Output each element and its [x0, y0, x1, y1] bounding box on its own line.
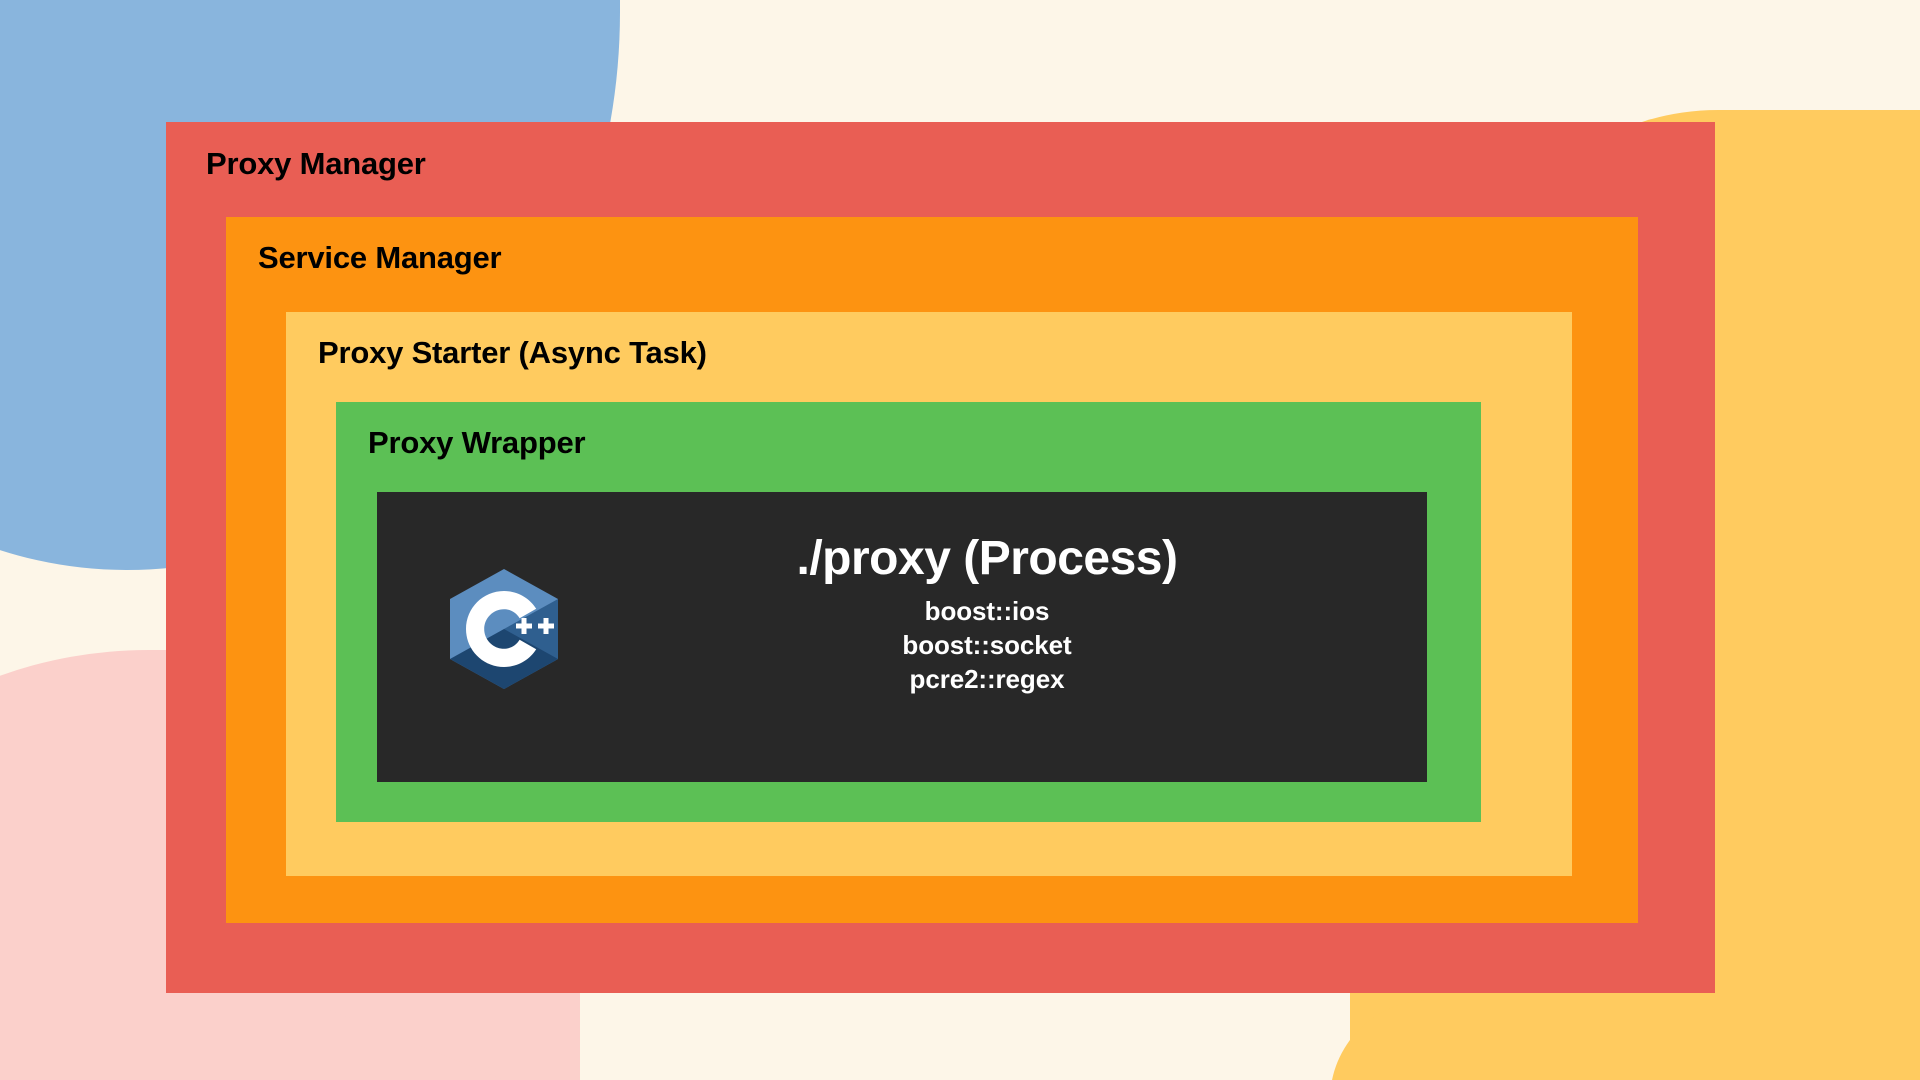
layer-service-manager: Service Manager Proxy Starter (Async Tas…	[226, 217, 1638, 923]
layer-proxy-starter: Proxy Starter (Async Task) Proxy Wrapper	[286, 312, 1572, 876]
process-text-block: ./proxy (Process) boost::ios boost::sock…	[547, 532, 1427, 697]
process-library-list: boost::ios boost::socket pcre2::regex	[547, 594, 1427, 697]
process-content: ./proxy (Process) boost::ios boost::sock…	[377, 492, 1427, 782]
layer-proxy-starter-label: Proxy Starter (Async Task)	[318, 335, 707, 371]
process-library-item: pcre2::regex	[547, 662, 1427, 696]
yellow-blob-bottom-decoration	[1330, 1000, 1670, 1080]
layer-service-manager-label: Service Manager	[258, 240, 501, 276]
diagram-canvas: Proxy Manager Service Manager Proxy Star…	[0, 0, 1920, 1080]
process-library-item: boost::ios	[547, 594, 1427, 628]
pink-blob-tail-decoration	[330, 1010, 630, 1080]
process-library-item: boost::socket	[547, 628, 1427, 662]
layer-proxy-manager-label: Proxy Manager	[206, 146, 426, 182]
layer-proxy-wrapper-label: Proxy Wrapper	[368, 425, 585, 461]
layer-proxy-wrapper: Proxy Wrapper	[336, 402, 1481, 822]
layer-proxy-manager: Proxy Manager Service Manager Proxy Star…	[166, 122, 1715, 993]
process-name: ./proxy (Process)	[547, 532, 1427, 586]
process-box: ./proxy (Process) boost::ios boost::sock…	[377, 492, 1427, 782]
